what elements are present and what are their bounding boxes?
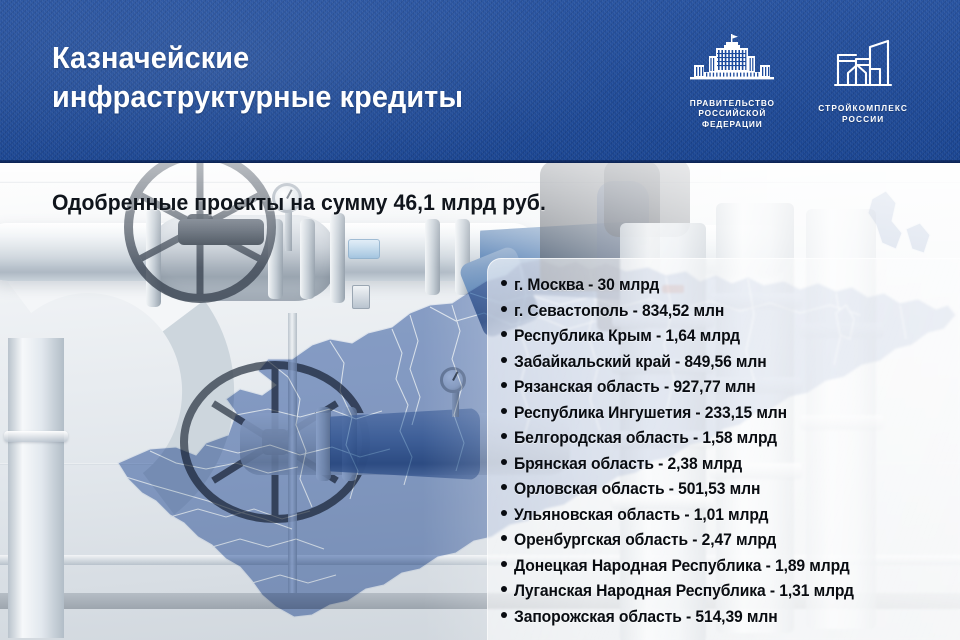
list-item-label: Республика Ингушетия - 233,15 млн	[514, 401, 787, 427]
list-item: Донецкая Народная Республика - 1,89 млрд	[501, 554, 960, 580]
bullet-icon	[501, 382, 507, 388]
bullet-icon	[501, 433, 507, 439]
title-line-1: Казначейские	[52, 38, 463, 77]
list-item: Оренбургская область - 2,47 млрд	[501, 528, 960, 554]
buildings-outline-icon	[830, 39, 896, 96]
bullet-icon	[501, 612, 507, 618]
logo-government-caption: ПРАВИТЕЛЬСТВО РОССИЙСКОЙ ФЕДЕРАЦИИ	[690, 98, 775, 130]
list-item-label: Орловская область - 501,53 млн	[514, 477, 760, 503]
bullet-icon	[501, 459, 507, 465]
list-item-label: г. Москва - 30 млрд	[514, 273, 659, 299]
infographic-poster: Одобренные проекты на сумму 46,1 млрд ру…	[0, 0, 960, 640]
list-item: Запорожская область - 514,39 млн	[501, 605, 960, 631]
bullet-icon	[501, 280, 507, 286]
government-building-icon	[688, 34, 776, 91]
list-item: г. Севастополь - 834,52 млн	[501, 299, 960, 325]
list-item-label: Донецкая Народная Республика - 1,89 млрд	[514, 554, 850, 580]
projects-panel: г. Москва - 30 млрд г. Севастополь - 834…	[487, 258, 960, 640]
list-item-label: г. Севастополь - 834,52 млн	[514, 299, 724, 325]
logo-stroykompleks: СТРОЙКОМПЛЕКС РОССИИ	[818, 39, 908, 124]
header-bar: Казначейские инфраструктурные кредиты	[0, 0, 960, 163]
bullet-icon	[501, 357, 507, 363]
list-item-label: Ульяновская область - 1,01 млрд	[514, 503, 768, 529]
list-item-label: Республика Крым - 1,64 млрд	[514, 324, 740, 350]
bullet-icon	[501, 331, 507, 337]
projects-list: г. Москва - 30 млрд г. Севастополь - 834…	[501, 273, 960, 630]
subtitle: Одобренные проекты на сумму 46,1 млрд ру…	[52, 190, 546, 216]
list-item-label: Белгородская область - 1,58 млрд	[514, 426, 777, 452]
bullet-icon	[501, 561, 507, 567]
list-item-label: Оренбургская область - 2,47 млрд	[514, 528, 776, 554]
list-item: Орловская область - 501,53 млн	[501, 477, 960, 503]
list-item-label: Забайкальский край - 849,56 млн	[514, 350, 767, 376]
list-item-label: Брянская область - 2,38 млрд	[514, 452, 742, 478]
bullet-icon	[501, 586, 507, 592]
list-item: Рязанская область - 927,77 млн	[501, 375, 960, 401]
list-item-label: Рязанская область - 927,77 млн	[514, 375, 756, 401]
bullet-icon	[501, 306, 507, 312]
bullet-icon	[501, 408, 507, 414]
bullet-icon	[501, 484, 507, 490]
list-item: Белгородская область - 1,58 млрд	[501, 426, 960, 452]
list-item-label: Запорожская область - 514,39 млн	[514, 605, 778, 631]
list-item: г. Москва - 30 млрд	[501, 273, 960, 299]
page-title: Казначейские инфраструктурные кредиты	[52, 38, 494, 116]
logo-group: ПРАВИТЕЛЬСТВО РОССИЙСКОЙ ФЕДЕРАЦИИ	[688, 0, 960, 163]
list-item: Республика Крым - 1,64 млрд	[501, 324, 960, 350]
logo-government: ПРАВИТЕЛЬСТВО РОССИЙСКОЙ ФЕДЕРАЦИИ	[688, 34, 776, 130]
title-line-2: инфраструктурные кредиты	[52, 77, 463, 116]
list-item: Ульяновская область - 1,01 млрд	[501, 503, 960, 529]
bullet-icon	[501, 535, 507, 541]
list-item: Забайкальский край - 849,56 млн	[501, 350, 960, 376]
logo-stroykompleks-caption: СТРОЙКОМПЛЕКС РОССИИ	[818, 103, 908, 124]
list-item: Республика Ингушетия - 233,15 млн	[501, 401, 960, 427]
bullet-icon	[501, 510, 507, 516]
list-item: Брянская область - 2,38 млрд	[501, 452, 960, 478]
list-item: Луганская Народная Республика - 1,31 млр…	[501, 579, 960, 605]
list-item-label: Луганская Народная Республика - 1,31 млр…	[514, 579, 854, 605]
